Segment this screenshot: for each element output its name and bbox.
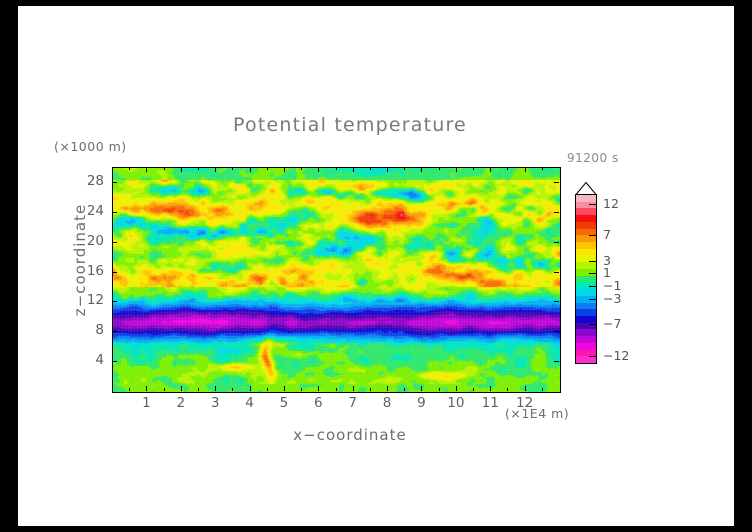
y-tick [112, 301, 117, 302]
x-tick [146, 167, 147, 172]
x-axis-unit: (×1E4 m) [505, 406, 569, 421]
x-tick-minor [404, 388, 405, 391]
x-tick-minor [301, 388, 302, 391]
colorbar-segment [576, 289, 596, 296]
colorbar-segment [576, 242, 596, 249]
y-tick [554, 182, 559, 183]
y-tick-label: 28 [60, 173, 104, 189]
x-tick [250, 167, 251, 172]
colorbar-segment [576, 303, 596, 310]
colorbar-tick [589, 204, 596, 205]
y-axis-label: z−coordinate [71, 190, 89, 330]
colorbar-segment [576, 276, 596, 283]
y-tick [112, 272, 117, 273]
colorbar-segment [576, 235, 596, 242]
x-tick [421, 386, 422, 391]
x-tick-label: 2 [168, 395, 194, 411]
x-tick [421, 167, 422, 172]
x-tick-label: 5 [271, 395, 297, 411]
x-tick-label: 3 [202, 395, 228, 411]
colorbar-segment [576, 215, 596, 222]
colorbar-segment [576, 316, 596, 323]
x-tick-minor [542, 388, 543, 391]
y-tick [112, 242, 117, 243]
x-tick-label: 9 [408, 395, 434, 411]
x-tick [215, 167, 216, 172]
x-tick [318, 386, 319, 391]
page-title: Potential temperature [210, 114, 490, 136]
colorbar-tick [589, 273, 596, 274]
colorbar-segment [576, 249, 596, 256]
colorbar-segment [576, 356, 596, 363]
x-tick [490, 167, 491, 172]
x-tick [353, 167, 354, 172]
time-label: 91200 s [567, 151, 619, 165]
x-tick-label: 7 [340, 395, 366, 411]
x-tick [284, 386, 285, 391]
x-tick-minor [267, 388, 268, 391]
x-tick-minor [336, 388, 337, 391]
y-axis-unit: (×1000 m) [54, 139, 127, 154]
x-tick-minor [129, 388, 130, 391]
x-tick-minor [439, 388, 440, 391]
x-tick-minor [473, 167, 474, 170]
y-tick [554, 301, 559, 302]
colorbar-label: −12 [603, 348, 629, 363]
x-tick-minor [439, 167, 440, 170]
x-tick [525, 167, 526, 172]
x-tick-label: 6 [305, 395, 331, 411]
x-tick [353, 386, 354, 391]
y-tick-label: 4 [60, 352, 104, 368]
x-tick-minor [507, 167, 508, 170]
colorbar-segment [576, 262, 596, 269]
colorbar-segment [576, 222, 596, 229]
x-tick-minor [336, 167, 337, 170]
x-tick [181, 386, 182, 391]
x-tick-minor [267, 167, 268, 170]
colorbar-tick [589, 356, 596, 357]
figure-page: Potential temperature (×1000 m) 91200 s … [18, 6, 734, 526]
x-tick [181, 167, 182, 172]
x-tick-minor [370, 388, 371, 391]
x-tick-minor [507, 388, 508, 391]
contour-plot-area [112, 167, 561, 393]
x-tick-minor [301, 167, 302, 170]
x-tick-label: 1 [133, 395, 159, 411]
x-tick-label: 10 [443, 395, 469, 411]
x-tick-minor [164, 167, 165, 170]
x-tick [215, 386, 216, 391]
y-tick [112, 212, 117, 213]
x-tick-minor [232, 167, 233, 170]
colorbar-gradient [575, 194, 597, 364]
x-tick [250, 386, 251, 391]
y-tick [554, 242, 559, 243]
x-tick-minor [129, 167, 130, 170]
y-tick [554, 272, 559, 273]
colorbar-tick [589, 235, 596, 236]
colorbar-segment [576, 329, 596, 336]
colorbar-label: −3 [603, 291, 621, 306]
colorbar-segment [576, 336, 596, 343]
colorbar-segment [576, 343, 596, 350]
y-tick [554, 331, 559, 332]
colorbar-label: 12 [603, 196, 619, 211]
colorbar-tick [589, 261, 596, 262]
colorbar-tick [589, 299, 596, 300]
x-tick [284, 167, 285, 172]
x-tick [525, 386, 526, 391]
x-tick [456, 386, 457, 391]
x-tick [387, 167, 388, 172]
colorbar-segment [576, 195, 596, 202]
x-tick-minor [404, 167, 405, 170]
y-tick [112, 331, 117, 332]
y-tick [554, 361, 559, 362]
x-tick-minor [473, 388, 474, 391]
x-tick-label: 11 [477, 395, 503, 411]
x-tick-minor [164, 388, 165, 391]
x-tick [146, 386, 147, 391]
x-tick [456, 167, 457, 172]
colorbar-segment [576, 309, 596, 316]
colorbar-label: −7 [603, 316, 621, 331]
colorbar-label: 7 [603, 227, 611, 242]
x-tick [318, 167, 319, 172]
y-tick [112, 182, 117, 183]
x-tick-minor [542, 167, 543, 170]
x-tick-minor [198, 167, 199, 170]
x-tick [490, 386, 491, 391]
y-tick [554, 212, 559, 213]
x-tick-minor [198, 388, 199, 391]
x-tick-label: 8 [374, 395, 400, 411]
y-tick [112, 361, 117, 362]
colorbar-segment [576, 208, 596, 215]
x-axis-label: x−coordinate [240, 426, 460, 444]
colorbar-tick [589, 324, 596, 325]
x-tick [387, 386, 388, 391]
temperature-field [113, 168, 560, 392]
colorbar-tick [589, 286, 596, 287]
x-tick-label: 4 [237, 395, 263, 411]
x-tick-minor [232, 388, 233, 391]
x-tick-minor [370, 167, 371, 170]
